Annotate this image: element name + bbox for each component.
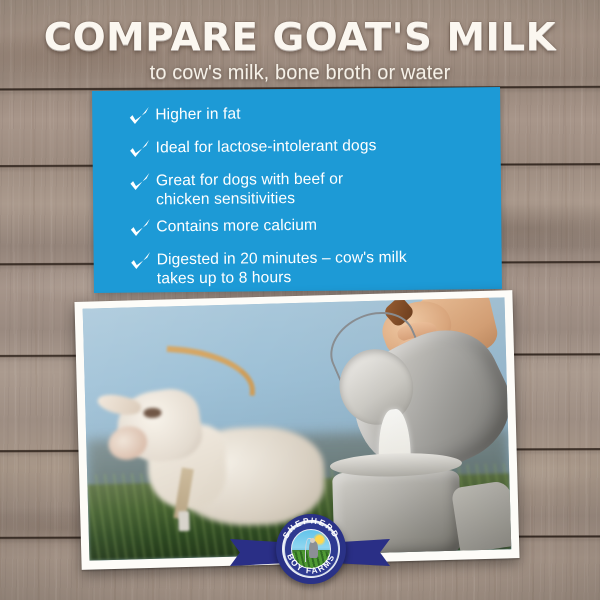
check-icon bbox=[127, 249, 157, 275]
check-icon bbox=[126, 216, 156, 242]
list-item: Digested in 20 minutes – cow's milk take… bbox=[127, 245, 492, 289]
metal-scoop bbox=[451, 480, 511, 554]
badge-bottom-text: BOY FARMS bbox=[285, 552, 337, 576]
list-item: Ideal for lactose-intolerant dogs bbox=[125, 133, 490, 164]
list-item-label: Great for dogs with beef or chicken sens… bbox=[156, 168, 344, 210]
goat-horn bbox=[163, 346, 257, 396]
goat-ear bbox=[96, 391, 143, 418]
header-block: COMPARE GOAT'S MILK to cow's milk, bone … bbox=[0, 0, 600, 85]
list-item: Contains more calcium bbox=[126, 212, 491, 243]
goat-collar-tag bbox=[178, 511, 190, 531]
check-icon bbox=[125, 104, 155, 130]
benefits-list: Higher in fat Ideal for lactose-intolera… bbox=[125, 100, 492, 288]
benefits-panel: Higher in fat Ideal for lactose-intolera… bbox=[92, 87, 502, 293]
list-item: Great for dogs with beef or chicken sens… bbox=[126, 166, 491, 210]
badge-lettering: SHEPHERD BOY FARMS bbox=[276, 514, 346, 584]
list-item-label: Digested in 20 minutes – cow's milk take… bbox=[157, 246, 407, 288]
brand-logo[interactable]: SHEPHERD BOY FARMS bbox=[230, 512, 390, 592]
list-item-label: Ideal for lactose-intolerant dogs bbox=[155, 134, 376, 157]
logo-badge: SHEPHERD BOY FARMS bbox=[276, 514, 346, 584]
page-subtitle: to cow's milk, bone broth or water bbox=[0, 62, 600, 85]
check-icon bbox=[126, 170, 156, 196]
check-icon bbox=[125, 137, 155, 163]
badge-top-text: SHEPHERD bbox=[280, 515, 341, 540]
list-item: Higher in fat bbox=[125, 100, 490, 131]
poster-canvas: COMPARE GOAT'S MILK to cow's milk, bone … bbox=[0, 0, 600, 600]
list-item-label: Higher in fat bbox=[155, 103, 241, 125]
list-item-label: Contains more calcium bbox=[156, 214, 317, 237]
page-title: COMPARE GOAT'S MILK bbox=[0, 17, 600, 57]
